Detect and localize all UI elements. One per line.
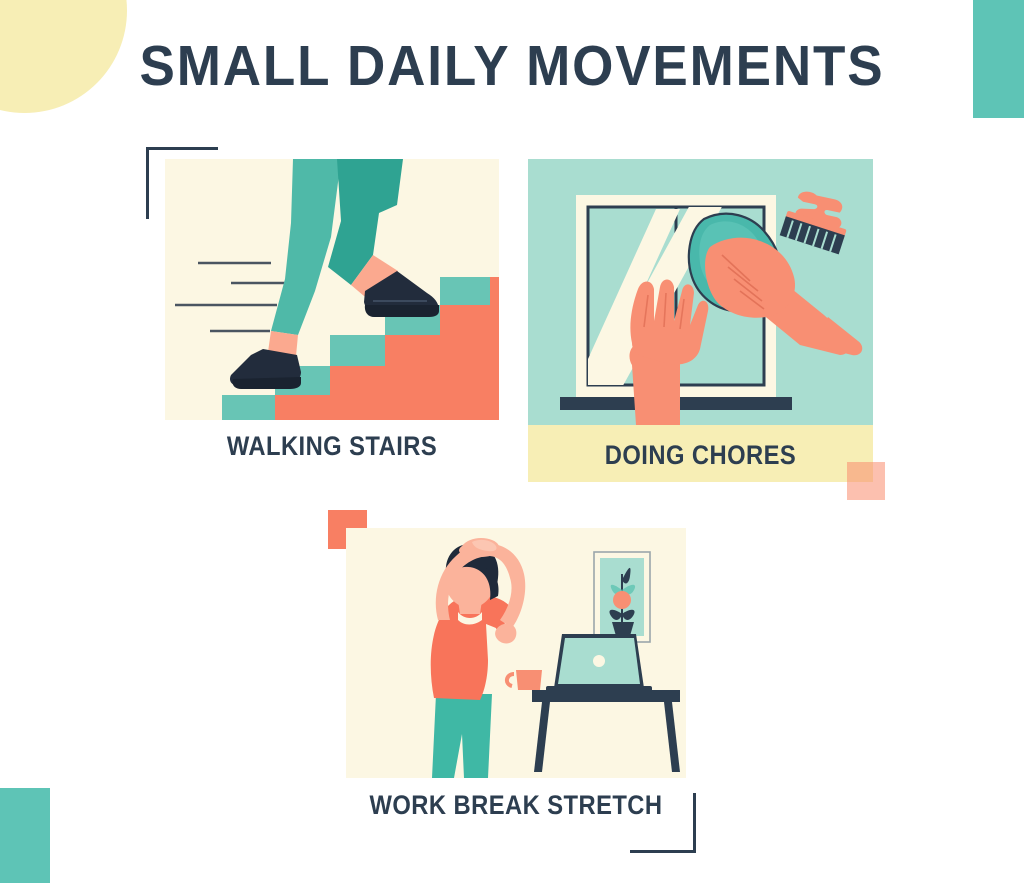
bracket-vertical-line xyxy=(146,147,149,219)
illustration-work-break-stretch xyxy=(346,528,686,778)
page-title: SMALL DAILY MOVEMENTS xyxy=(36,38,988,95)
coral-square-soft-decoration xyxy=(847,462,885,500)
teal-rect-bottom-left-decoration xyxy=(0,788,50,883)
plant-poster xyxy=(594,552,650,642)
card-label-walking-stairs: WALKING STAIRS xyxy=(185,431,479,462)
bracket-vertical-line xyxy=(693,793,696,853)
card-label-work-break-stretch: WORK BREAK STRETCH xyxy=(366,790,665,821)
card-walking-stairs[interactable]: WALKING STAIRS xyxy=(165,159,499,479)
illustration-doing-chores xyxy=(528,159,873,425)
card-label-doing-chores: DOING CHORES xyxy=(549,440,853,471)
card-doing-chores[interactable]: DOING CHORES xyxy=(528,159,873,482)
card-work-break-stretch[interactable]: WORK BREAK STRETCH xyxy=(346,528,686,835)
illustration-walking-stairs xyxy=(165,159,499,420)
poster-canvas: SMALL DAILY MOVEMENTS xyxy=(0,0,1024,883)
bracket-horizontal-line xyxy=(630,850,696,853)
bracket-horizontal-line xyxy=(146,147,218,150)
